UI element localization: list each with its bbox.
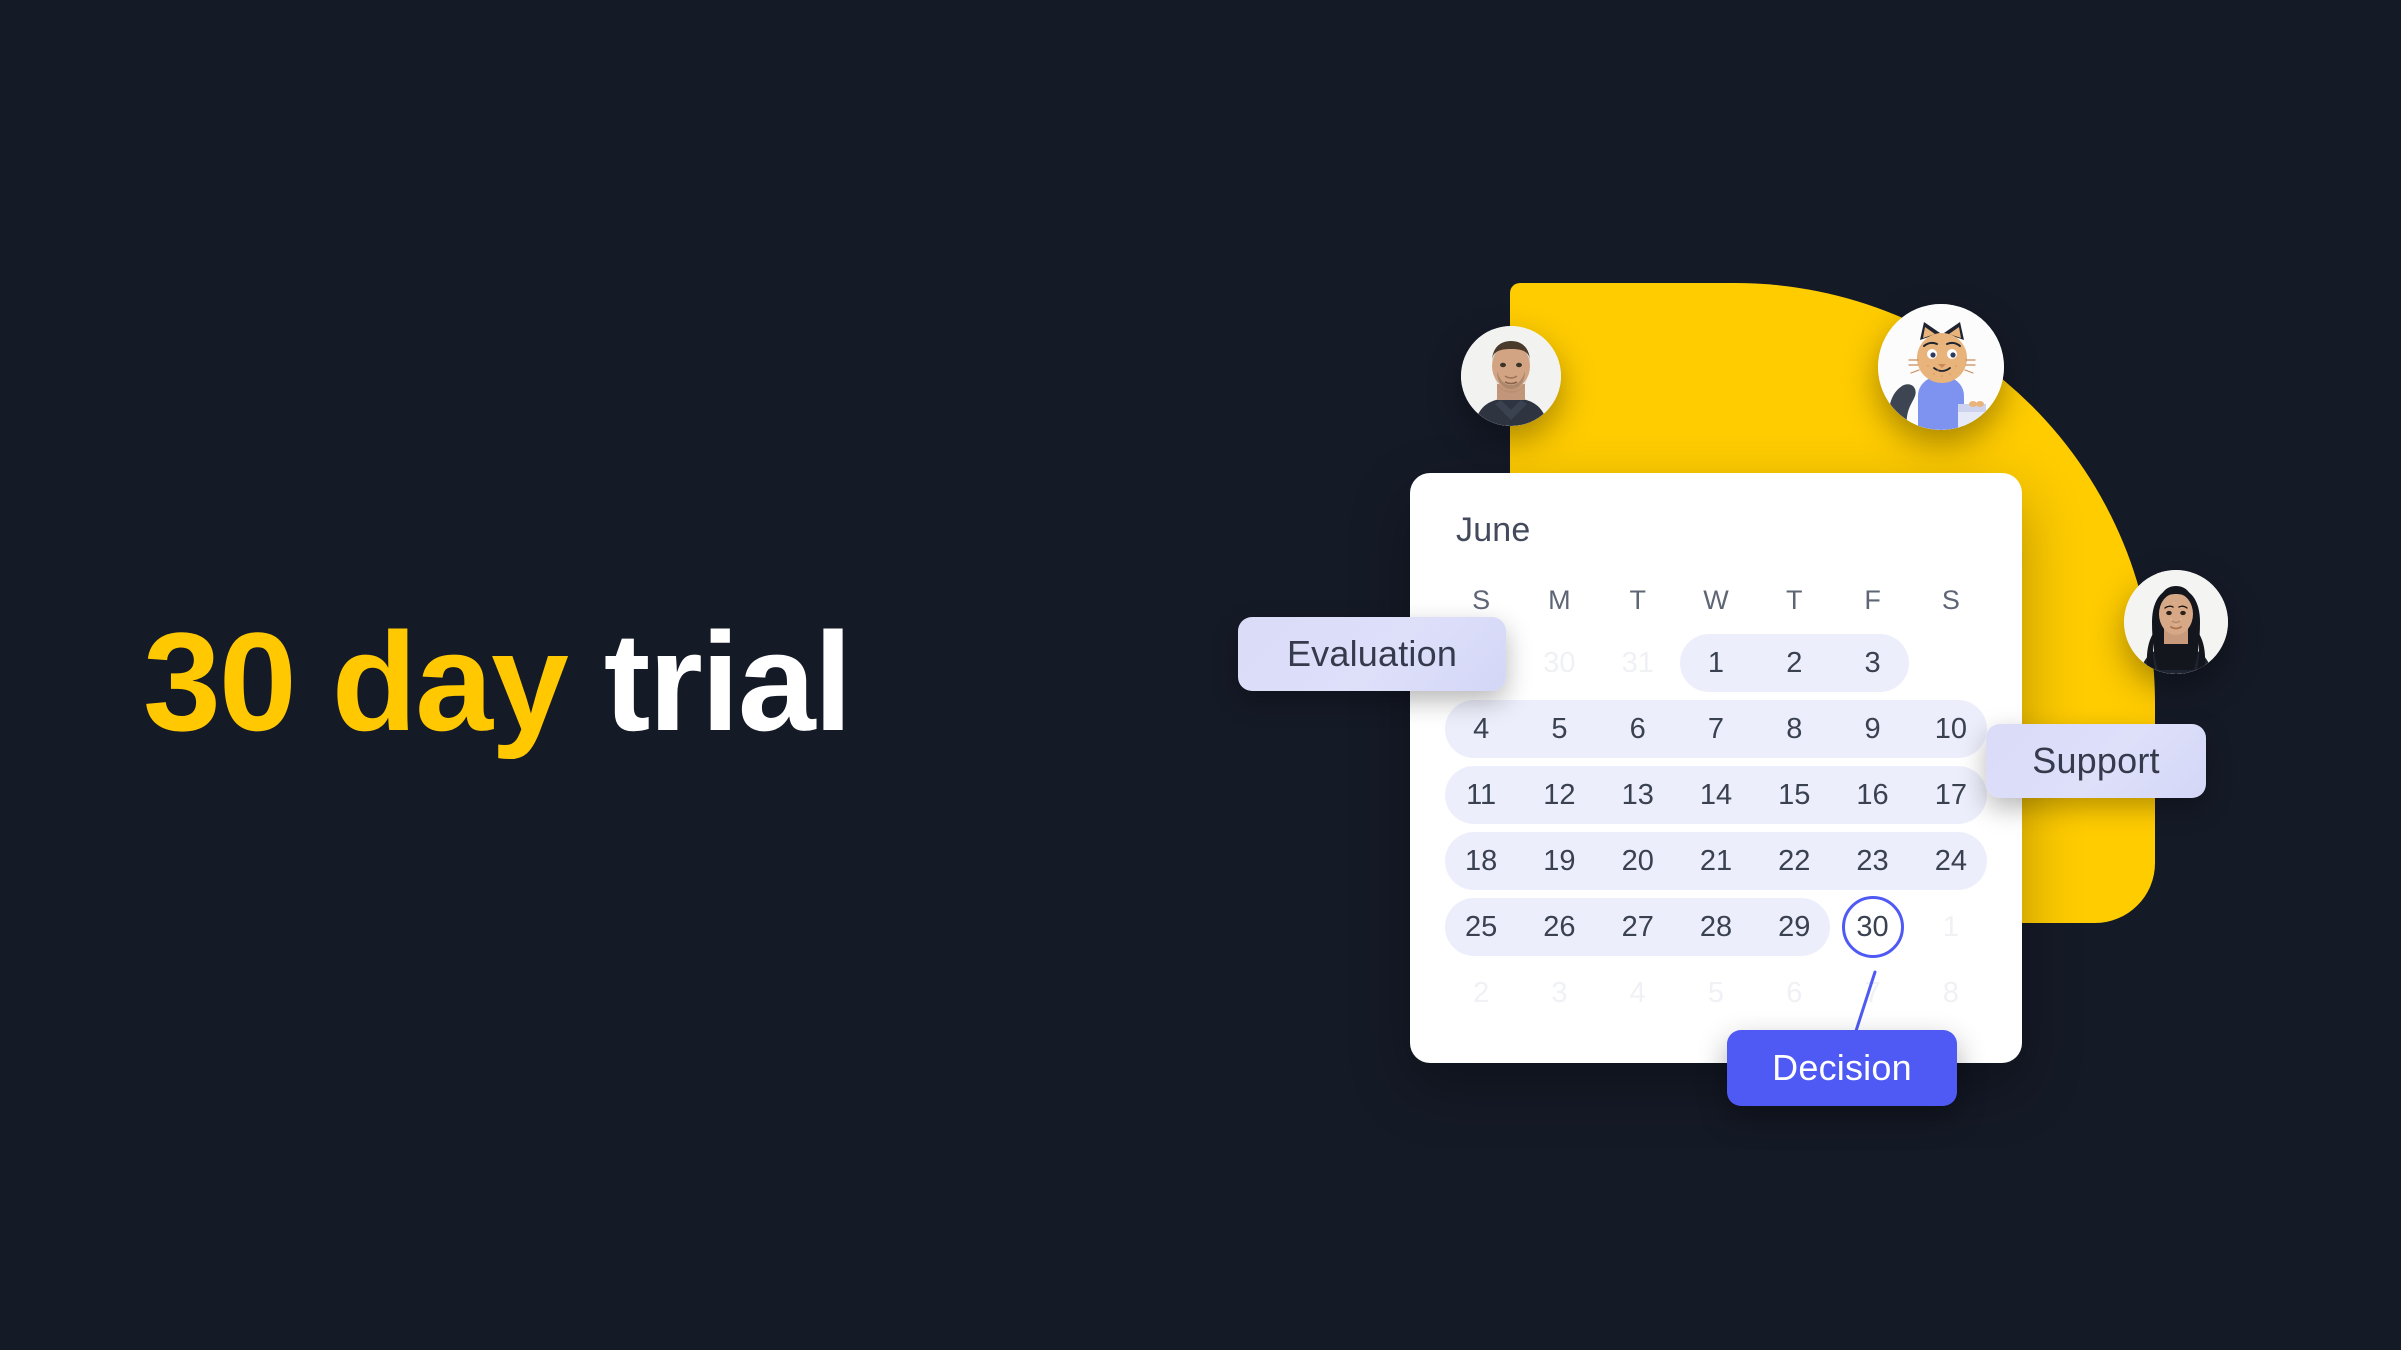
calendar-day-label: 4 <box>1630 977 1646 1009</box>
calendar-day-label: 8 <box>1786 713 1802 745</box>
avatar-cat[interactable] <box>1878 304 2004 430</box>
calendar-day[interactable]: 8 <box>1755 713 1833 746</box>
calendar-day-label: 18 <box>1465 845 1497 877</box>
calendar-weekday-header: SMTWTFS <box>1442 585 1990 616</box>
calendar-day[interactable]: 16 <box>1833 779 1911 812</box>
calendar-day[interactable]: 29 <box>1755 911 1833 944</box>
calendar-day[interactable]: 10 <box>1912 713 1990 746</box>
tag-evaluation-label: Evaluation <box>1287 633 1457 675</box>
calendar-day-label: 24 <box>1935 845 1967 877</box>
calendar-grid: SMTWTFS 29303112345678910111213141516171… <box>1442 585 1990 1026</box>
calendar-weekday-3: W <box>1677 585 1755 616</box>
tag-support[interactable]: Support <box>1986 724 2206 798</box>
calendar-day-label: 28 <box>1700 911 1732 943</box>
calendar-day[interactable]: 7 <box>1677 713 1755 746</box>
calendar-day[interactable]: 1 <box>1677 647 1755 680</box>
calendar-day-label: 2 <box>1786 647 1802 679</box>
calendar-day[interactable]: 23 <box>1833 845 1911 878</box>
calendar-day[interactable]: 17 <box>1912 779 1990 812</box>
calendar-day-label: 19 <box>1543 845 1575 877</box>
calendar-day-label: 25 <box>1465 911 1497 943</box>
calendar-day[interactable]: 3 <box>1833 647 1911 680</box>
calendar-day-label: 7 <box>1708 713 1724 745</box>
calendar-day-label: 23 <box>1856 845 1888 877</box>
calendar-day-label: 12 <box>1543 779 1575 811</box>
calendar-day[interactable]: 27 <box>1599 911 1677 944</box>
calendar-day[interactable]: 11 <box>1442 779 1520 812</box>
hero-banner: 30 day trial June SMTWTFS 29303112345678… <box>0 0 2401 1350</box>
calendar-day-label: 3 <box>1551 977 1567 1009</box>
calendar-day-label: 11 <box>1466 779 1496 811</box>
calendar-day-label: 15 <box>1778 779 1810 811</box>
calendar-day-label: 4 <box>1473 713 1489 745</box>
calendar-weekday-4: T <box>1755 585 1833 616</box>
calendar-week-row: 2526272829301 <box>1442 894 1990 960</box>
calendar-day[interactable]: 9 <box>1833 713 1911 746</box>
calendar-day[interactable]: 31 <box>1599 647 1677 680</box>
avatar-woman[interactable] <box>2124 570 2228 674</box>
calendar-day[interactable]: 3 <box>1520 977 1598 1010</box>
tag-decision-label: Decision <box>1772 1047 1912 1089</box>
calendar-day-label: 1 <box>1943 911 1959 943</box>
calendar-day-label: 16 <box>1856 779 1888 811</box>
calendar-day[interactable]: 6 <box>1755 977 1833 1010</box>
calendar-day[interactable]: 19 <box>1520 845 1598 878</box>
calendar-day[interactable]: 21 <box>1677 845 1755 878</box>
calendar-day[interactable]: 12 <box>1520 779 1598 812</box>
calendar-day[interactable]: 1 <box>1912 911 1990 944</box>
calendar-day-label: 5 <box>1708 977 1724 1009</box>
calendar-day[interactable]: 30 <box>1520 647 1598 680</box>
calendar-card: June SMTWTFS 293031123456789101112131415… <box>1410 473 2022 1063</box>
calendar-day-label: 21 <box>1700 845 1732 877</box>
calendar-day[interactable]: 15 <box>1755 779 1833 812</box>
calendar-weeks: 2930311234567891011121314151617181920212… <box>1442 630 1990 1026</box>
calendar-day-label: 30 <box>1543 647 1575 679</box>
calendar-day-label: 22 <box>1778 845 1810 877</box>
calendar-day-label: 29 <box>1778 911 1810 943</box>
calendar-day-label: 6 <box>1630 713 1646 745</box>
calendar-day-label: 7 <box>1864 977 1880 1009</box>
calendar-day[interactable]: 6 <box>1599 713 1677 746</box>
page-title: 30 day trial <box>143 608 851 755</box>
calendar-month-label: June <box>1456 511 1531 550</box>
headline-rest: trial <box>604 603 851 760</box>
calendar-day-label: 5 <box>1551 713 1567 745</box>
calendar-week-row: 11121314151617 <box>1442 762 1990 828</box>
calendar-week-row: 45678910 <box>1442 696 1990 762</box>
calendar-day[interactable]: 26 <box>1520 911 1598 944</box>
calendar-day-label: 30 <box>1856 911 1888 943</box>
calendar-day-label: 27 <box>1622 911 1654 943</box>
calendar-day-label: 10 <box>1935 713 1967 745</box>
tag-evaluation[interactable]: Evaluation <box>1238 617 1506 691</box>
calendar-day[interactable]: 22 <box>1755 845 1833 878</box>
calendar-day[interactable]: 13 <box>1599 779 1677 812</box>
calendar-day-label: 9 <box>1864 713 1880 745</box>
calendar-day[interactable]: 20 <box>1599 845 1677 878</box>
calendar-day[interactable]: 2 <box>1755 647 1833 680</box>
calendar-weekday-5: F <box>1833 585 1911 616</box>
calendar-weekday-1: M <box>1520 585 1598 616</box>
calendar-day[interactable]: 25 <box>1442 911 1520 944</box>
avatar-man-photo <box>1461 326 1561 426</box>
calendar-week-row: 18192021222324 <box>1442 828 1990 894</box>
calendar-day-selected[interactable]: 30 <box>1833 911 1911 944</box>
calendar-day-label: 3 <box>1864 647 1880 679</box>
calendar-weekday-6: S <box>1912 585 1990 616</box>
tag-decision[interactable]: Decision <box>1727 1030 1957 1106</box>
avatar-woman-photo <box>2124 570 2228 674</box>
calendar-weekday-0: S <box>1442 585 1520 616</box>
calendar-day[interactable]: 8 <box>1912 977 1990 1010</box>
calendar-day[interactable]: 2 <box>1442 977 1520 1010</box>
calendar-day-label: 1 <box>1708 647 1724 679</box>
calendar-day[interactable]: 18 <box>1442 845 1520 878</box>
calendar-day-label: 26 <box>1543 911 1575 943</box>
calendar-day-label: 8 <box>1943 977 1959 1009</box>
headline-accent: 30 day <box>143 603 567 760</box>
calendar-day-label: 20 <box>1622 845 1654 877</box>
tag-support-label: Support <box>2032 740 2160 782</box>
calendar-day-label: 6 <box>1786 977 1802 1009</box>
calendar-day-label: 17 <box>1935 779 1967 811</box>
calendar-day[interactable]: 28 <box>1677 911 1755 944</box>
calendar-day[interactable]: 24 <box>1912 845 1990 878</box>
calendar-day-label: 2 <box>1473 977 1489 1009</box>
calendar-day-label: 14 <box>1700 779 1732 811</box>
calendar-week-row: 293031123 <box>1442 630 1990 696</box>
calendar-day[interactable]: 4 <box>1599 977 1677 1010</box>
calendar-day[interactable]: 7 <box>1833 977 1911 1010</box>
calendar-week-row: 2345678 <box>1442 960 1990 1026</box>
calendar-day[interactable]: 4 <box>1442 713 1520 746</box>
calendar-day-label: 13 <box>1622 779 1654 811</box>
avatar-man[interactable] <box>1461 326 1561 426</box>
calendar-day[interactable]: 5 <box>1520 713 1598 746</box>
calendar-day[interactable]: 5 <box>1677 977 1755 1010</box>
calendar-day[interactable]: 14 <box>1677 779 1755 812</box>
calendar-day-label: 31 <box>1622 647 1654 679</box>
calendar-weekday-2: T <box>1599 585 1677 616</box>
avatar-cat-illustration <box>1878 304 2004 430</box>
